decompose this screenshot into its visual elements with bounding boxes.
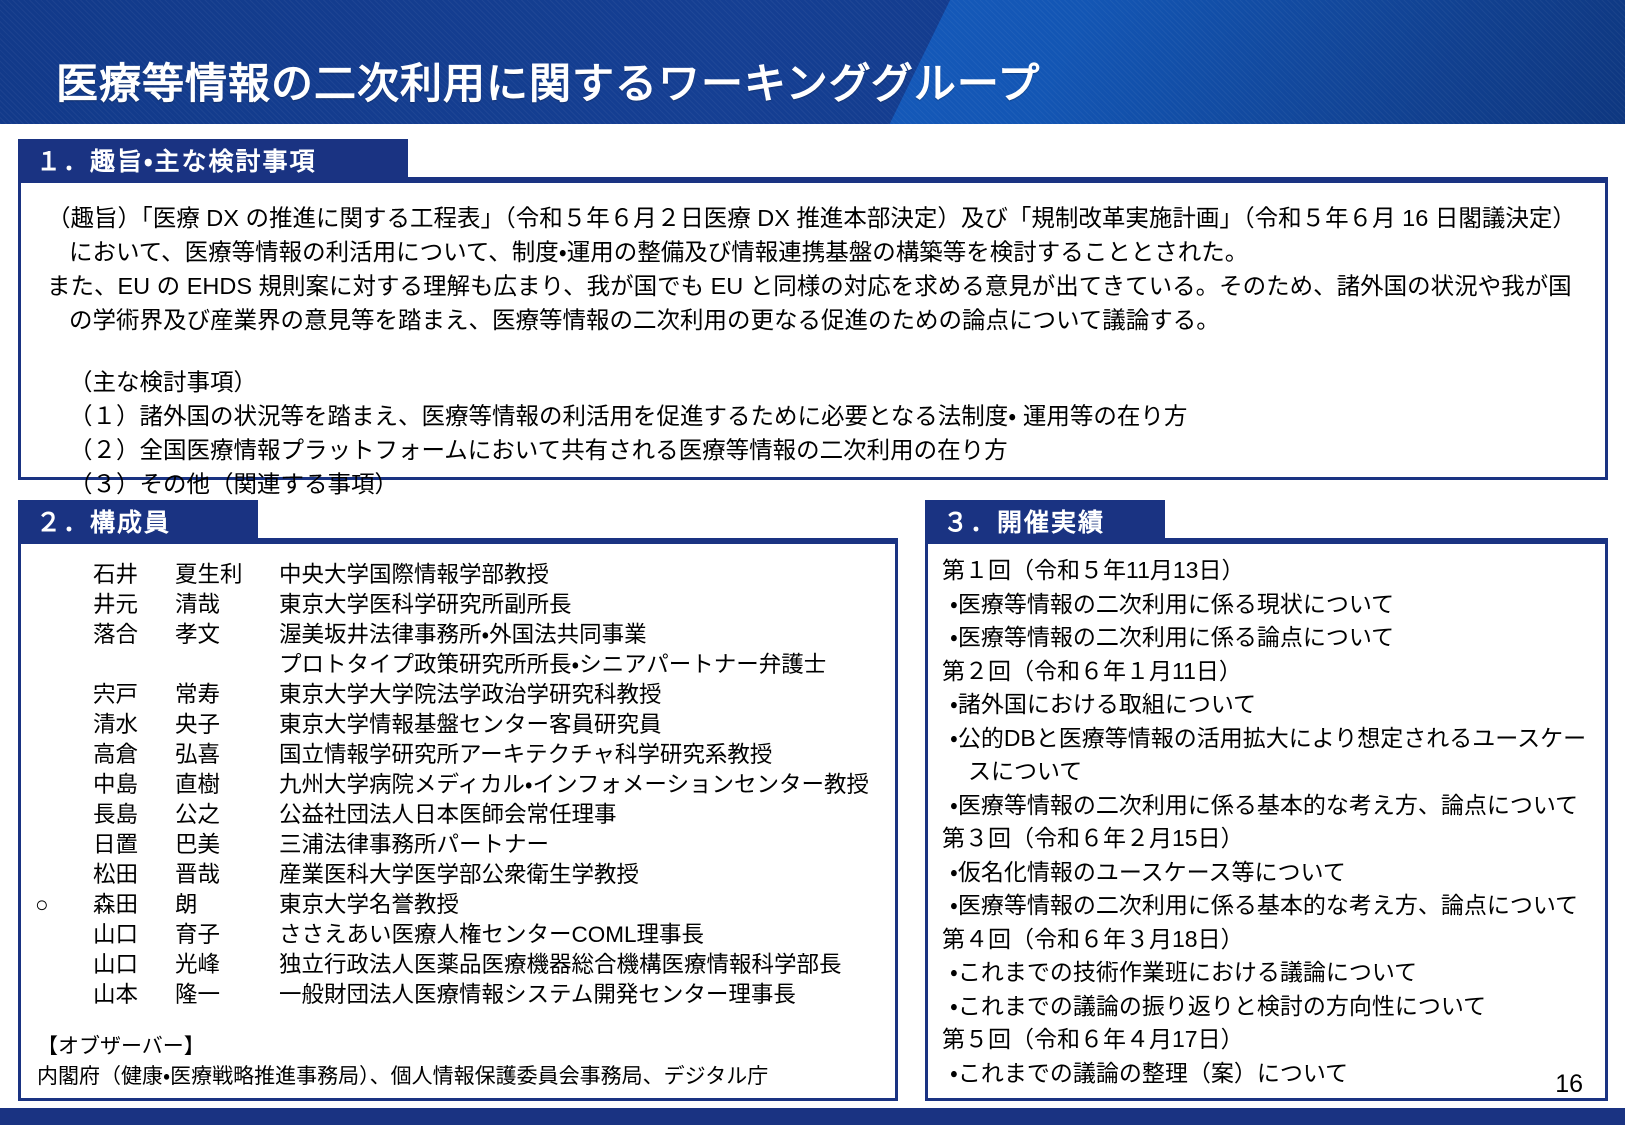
member-given-name: 清哉 bbox=[175, 590, 279, 620]
member-given-name: 育子 bbox=[175, 920, 279, 950]
member-given-name: 巴美 bbox=[175, 830, 279, 860]
topics-label: （主な検討事項） bbox=[47, 365, 1583, 399]
member-row: ○森田朗東京大学名誉教授 bbox=[21, 890, 895, 920]
member-affiliation: 三浦法律事務所パートナー bbox=[279, 830, 895, 860]
member-affiliation-line1: 九州大学病院メディカル・インフォメーションセンター教授 bbox=[279, 772, 869, 797]
member-affiliation: 東京大学大学院法学政治学研究科教授 bbox=[279, 680, 895, 710]
meeting-agenda-item: ・医療等情報の二次利用に係る論点について bbox=[942, 621, 1595, 655]
member-row: 落合孝文渥美坂井法律事務所・外国法共同事業プロトタイプ政策研究所所長・シニアパー… bbox=[21, 620, 895, 680]
member-affiliation: 独立行政法人医薬品医療機器総合機構医療情報科学部長 bbox=[279, 950, 895, 980]
member-family-name: 高倉 bbox=[89, 740, 175, 770]
slide-header-banner: 医療等情報の二次利用に関するワーキンググループ bbox=[0, 0, 1625, 124]
member-row: 清水央子東京大学情報基盤センター客員研究員 bbox=[21, 710, 895, 740]
section-3-heading-label: ３．開催実績 bbox=[925, 503, 1105, 539]
meeting-agenda-item: ・医療等情報の二次利用に係る現状について bbox=[942, 588, 1595, 622]
member-row: 日置巴美三浦法律事務所パートナー bbox=[21, 830, 895, 860]
member-row: 井元清哉東京大学医科学研究所副所長 bbox=[21, 590, 895, 620]
member-mark-empty bbox=[21, 620, 89, 680]
member-mark-empty bbox=[21, 860, 89, 890]
member-affiliation-line1: 中央大学国際情報学部教授 bbox=[279, 562, 549, 587]
meeting-agenda-item: ・これまでの議論の振り返りと検討の方向性について bbox=[942, 990, 1595, 1024]
member-row: 中島直樹九州大学病院メディカル・インフォメーションセンター教授 bbox=[21, 770, 895, 800]
member-family-name: 山口 bbox=[89, 920, 175, 950]
meeting-title: 第１回（令和５年11月13日） bbox=[942, 554, 1595, 588]
member-row: 高倉弘喜国立情報学研究所アーキテクチャ科学研究系教授 bbox=[21, 740, 895, 770]
member-affiliation-line2: プロトタイプ政策研究所所長・シニアパートナー弁護士 bbox=[279, 650, 895, 680]
section-3-rule bbox=[1165, 538, 1608, 542]
member-given-name: 光峰 bbox=[175, 950, 279, 980]
member-affiliation-line1: 渥美坂井法律事務所・外国法共同事業 bbox=[279, 622, 647, 647]
member-row: 長島公之公益社団法人日本医師会常任理事 bbox=[21, 800, 895, 830]
member-family-name: 日置 bbox=[89, 830, 175, 860]
member-row: 山口育子ささえあい医療人権センターCOML理事長 bbox=[21, 920, 895, 950]
member-affiliation: 渥美坂井法律事務所・外国法共同事業プロトタイプ政策研究所所長・シニアパートナー弁… bbox=[279, 620, 895, 680]
meeting-agenda-item: ・公的DBと医療等情報の活用拡大により想定されるユースケースについて bbox=[942, 722, 1595, 789]
member-family-name: 落合 bbox=[89, 620, 175, 680]
meeting-agenda-item: ・医療等情報の二次利用に係る基本的な考え方、論点について bbox=[942, 889, 1595, 923]
member-mark-empty bbox=[21, 740, 89, 770]
member-affiliation: 東京大学情報基盤センター客員研究員 bbox=[279, 710, 895, 740]
member-family-name: 山本 bbox=[89, 980, 175, 1010]
observer-label: 【オブザーバー】 bbox=[37, 1032, 895, 1062]
member-affiliation: ささえあい医療人権センターCOML理事長 bbox=[279, 920, 895, 950]
member-row: 山本隆一一般財団法人医療情報システム開発センター理事長 bbox=[21, 980, 895, 1010]
meeting-agenda-item: ・諸外国における取組について bbox=[942, 688, 1595, 722]
member-affiliation-line1: 三浦法律事務所パートナー bbox=[279, 832, 549, 857]
meeting-history-list: 第１回（令和５年11月13日）・医療等情報の二次利用に係る現状について・医療等情… bbox=[928, 544, 1605, 1090]
member-given-name: 隆一 bbox=[175, 980, 279, 1010]
member-given-name: 央子 bbox=[175, 710, 279, 740]
member-given-name: 孝文 bbox=[175, 620, 279, 680]
section-1-heading: １．趣旨・主な検討事項 bbox=[18, 139, 408, 181]
member-given-name: 朗 bbox=[175, 890, 279, 920]
member-mark-empty bbox=[21, 920, 89, 950]
member-family-name: 石井 bbox=[89, 560, 175, 590]
bottom-accent-bar bbox=[0, 1108, 1625, 1125]
member-family-name: 長島 bbox=[89, 800, 175, 830]
topic-item-1: （１）諸外国の状況等を踏まえ、医療等情報の利活用を促進するために必要となる法制度… bbox=[47, 399, 1583, 433]
member-family-name: 山口 bbox=[89, 950, 175, 980]
meeting-agenda-item: ・医療等情報の二次利用に係る基本的な考え方、論点について bbox=[942, 789, 1595, 823]
member-row: 石井夏生利中央大学国際情報学部教授 bbox=[21, 560, 895, 590]
observer-text: 内閣府（健康・医療戦略推進事務局）、個人情報保護委員会事務局、デジタル庁 bbox=[37, 1062, 895, 1092]
slide-title: 医療等情報の二次利用に関するワーキンググループ bbox=[56, 50, 1040, 111]
member-mark-empty bbox=[21, 830, 89, 860]
member-family-name: 井元 bbox=[89, 590, 175, 620]
member-affiliation: 一般財団法人医療情報システム開発センター理事長 bbox=[279, 980, 895, 1010]
member-mark-empty bbox=[21, 560, 89, 590]
member-mark-empty bbox=[21, 770, 89, 800]
member-affiliation: 中央大学国際情報学部教授 bbox=[279, 560, 895, 590]
member-family-name: 宍戸 bbox=[89, 680, 175, 710]
section-2-heading: ２．構成員 bbox=[18, 500, 258, 542]
member-mark-empty bbox=[21, 680, 89, 710]
member-family-name: 中島 bbox=[89, 770, 175, 800]
topic-item-3: （３）その他（関連する事項） bbox=[47, 467, 1583, 501]
member-affiliation: 九州大学病院メディカル・インフォメーションセンター教授 bbox=[279, 770, 895, 800]
member-row: 山口光峰独立行政法人医薬品医療機器総合機構医療情報科学部長 bbox=[21, 950, 895, 980]
section-1-heading-label: １．趣旨・主な検討事項 bbox=[18, 142, 317, 178]
section-2-heading-label: ２．構成員 bbox=[18, 503, 171, 539]
meeting-title: 第２回（令和６年１月11日） bbox=[942, 655, 1595, 689]
member-affiliation-line1: 公益社団法人日本医師会常任理事 bbox=[279, 802, 617, 827]
member-affiliation-line1: ささえあい医療人権センターCOML理事長 bbox=[279, 922, 704, 947]
member-affiliation: 東京大学名誉教授 bbox=[279, 890, 895, 920]
member-mark-empty bbox=[21, 950, 89, 980]
section-1-rule bbox=[408, 177, 1608, 181]
member-mark-empty bbox=[21, 800, 89, 830]
member-family-name: 森田 bbox=[89, 890, 175, 920]
member-affiliation-line1: 東京大学大学院法学政治学研究科教授 bbox=[279, 682, 662, 707]
member-affiliation-line1: 産業医科大学医学部公衆衛生学教授 bbox=[279, 862, 639, 887]
section-3-heading: ３．開催実績 bbox=[925, 500, 1165, 542]
member-row: 松田晋哉産業医科大学医学部公衆衛生学教授 bbox=[21, 860, 895, 890]
paragraph-spacer bbox=[47, 337, 1583, 365]
section-1-content-box: （趣旨）「医療 DX の推進に関する工程表」（令和５年６月２日医療 DX 推進本… bbox=[18, 180, 1608, 480]
meeting-title: 第５回（令和６年４月17日） bbox=[942, 1023, 1595, 1057]
member-mark-empty bbox=[21, 710, 89, 740]
member-affiliation-line1: 東京大学情報基盤センター客員研究員 bbox=[279, 712, 662, 737]
member-affiliation-line1: 独立行政法人医薬品医療機器総合機構医療情報科学部長 bbox=[279, 952, 842, 977]
member-row: 宍戸常寿東京大学大学院法学政治学研究科教授 bbox=[21, 680, 895, 710]
member-family-name: 松田 bbox=[89, 860, 175, 890]
member-given-name: 公之 bbox=[175, 800, 279, 830]
member-table: 石井夏生利中央大学国際情報学部教授井元清哉東京大学医科学研究所副所長落合孝文渥美… bbox=[21, 560, 895, 1010]
chair-mark-icon: ○ bbox=[21, 890, 89, 920]
observer-block: 【オブザーバー】 内閣府（健康・医療戦略推進事務局）、個人情報保護委員会事務局、… bbox=[37, 1032, 895, 1092]
meeting-agenda-item: ・これまでの議論の整理（案）について bbox=[942, 1057, 1595, 1091]
member-given-name: 弘喜 bbox=[175, 740, 279, 770]
member-mark-empty bbox=[21, 590, 89, 620]
purpose-paragraph-1: （趣旨）「医療 DX の推進に関する工程表」（令和５年６月２日医療 DX 推進本… bbox=[47, 201, 1583, 269]
member-affiliation: 東京大学医科学研究所副所長 bbox=[279, 590, 895, 620]
member-affiliation-line1: 東京大学名誉教授 bbox=[279, 892, 459, 917]
member-family-name: 清水 bbox=[89, 710, 175, 740]
member-given-name: 直樹 bbox=[175, 770, 279, 800]
member-given-name: 晋哉 bbox=[175, 860, 279, 890]
page-number: 16 bbox=[1555, 1070, 1583, 1099]
member-affiliation: 公益社団法人日本医師会常任理事 bbox=[279, 800, 895, 830]
member-affiliation: 国立情報学研究所アーキテクチャ科学研究系教授 bbox=[279, 740, 895, 770]
meeting-agenda-item: ・仮名化情報のユースケース等について bbox=[942, 856, 1595, 890]
topic-item-2: （２）全国医療情報プラットフォームにおいて共有される医療等情報の二次利用の在り方 bbox=[47, 433, 1583, 467]
member-affiliation: 産業医科大学医学部公衆衛生学教授 bbox=[279, 860, 895, 890]
member-mark-empty bbox=[21, 980, 89, 1010]
member-affiliation-line1: 国立情報学研究所アーキテクチャ科学研究系教授 bbox=[279, 742, 772, 767]
section-2-rule bbox=[258, 538, 898, 542]
meeting-agenda-item: ・これまでの技術作業班における議論について bbox=[942, 956, 1595, 990]
member-given-name: 夏生利 bbox=[175, 560, 279, 590]
meeting-title: 第４回（令和６年３月18日） bbox=[942, 923, 1595, 957]
member-affiliation-line1: 一般財団法人医療情報システム開発センター理事長 bbox=[279, 982, 796, 1007]
section-1-body: （趣旨）「医療 DX の推進に関する工程表」（令和５年６月２日医療 DX 推進本… bbox=[21, 183, 1605, 501]
member-given-name: 常寿 bbox=[175, 680, 279, 710]
member-affiliation-line1: 東京大学医科学研究所副所長 bbox=[279, 592, 572, 617]
meeting-title: 第３回（令和６年２月15日） bbox=[942, 822, 1595, 856]
purpose-paragraph-2: また、EU の EHDS 規則案に対する理解も広まり、我が国でも EU と同様の… bbox=[47, 269, 1583, 337]
section-2-content-box: 石井夏生利中央大学国際情報学部教授井元清哉東京大学医科学研究所副所長落合孝文渥美… bbox=[18, 541, 898, 1101]
section-3-content-box: 第１回（令和５年11月13日）・医療等情報の二次利用に係る現状について・医療等情… bbox=[925, 541, 1608, 1101]
